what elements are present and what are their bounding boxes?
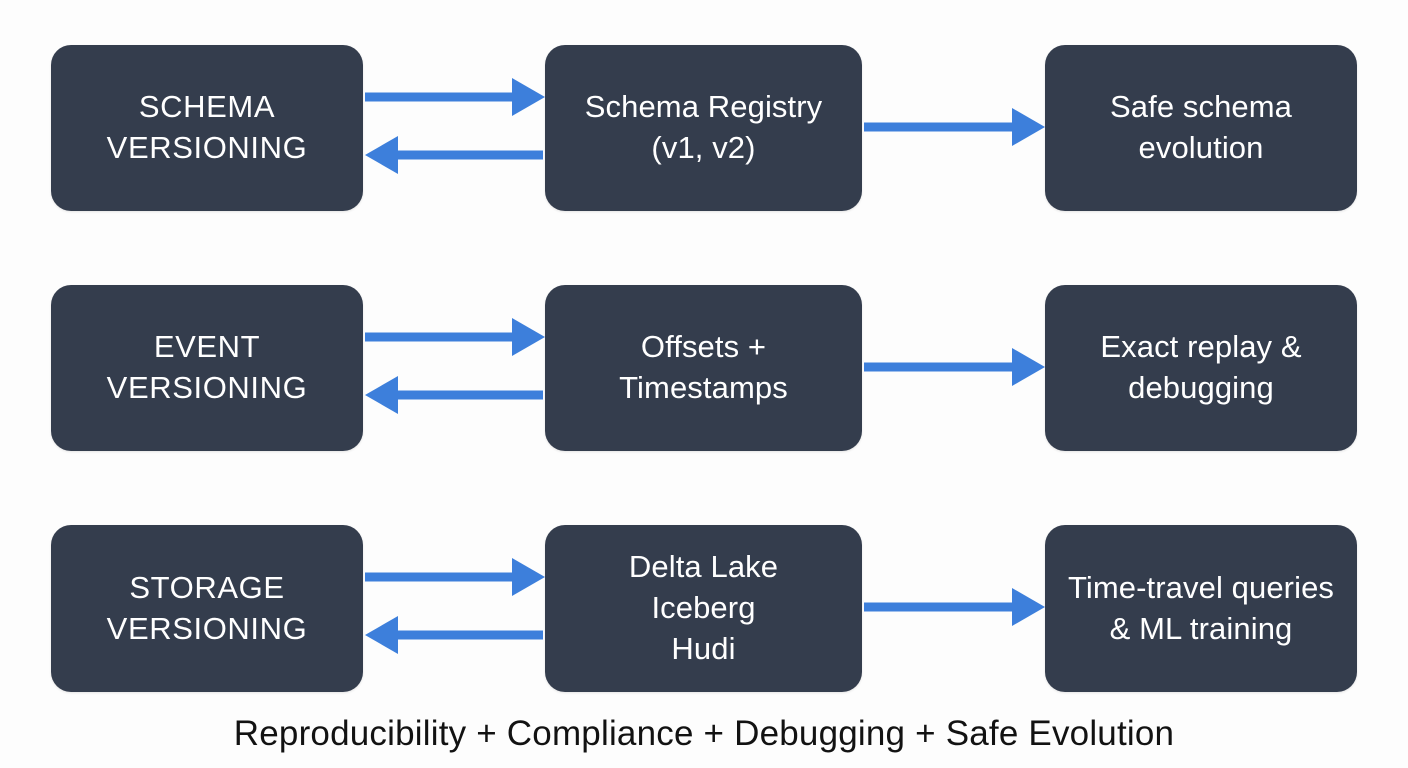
node-offsets-timestamps-label: Offsets + Timestamps	[619, 327, 788, 409]
node-schema-versioning[interactable]: SCHEMA VERSIONING	[51, 45, 363, 211]
arrow-row1-mechanism-to-trigger	[365, 136, 543, 174]
node-storage-versioning-label: STORAGE VERSIONING	[107, 568, 308, 650]
summary-caption: Reproducibility + Compliance + Debugging…	[0, 714, 1408, 754]
node-time-travel-ml-training-label: Time-travel queries & ML training	[1068, 568, 1334, 650]
node-event-versioning-label: EVENT VERSIONING	[107, 327, 308, 409]
node-table-formats[interactable]: Delta Lake Iceberg Hudi	[545, 525, 862, 692]
arrow-row2-mechanism-to-outcome	[864, 348, 1045, 386]
node-schema-registry-label: Schema Registry (v1, v2)	[585, 87, 823, 169]
node-safe-schema-evolution-label: Safe schema evolution	[1110, 87, 1292, 169]
node-schema-registry[interactable]: Schema Registry (v1, v2)	[545, 45, 862, 211]
arrow-row1-trigger-to-mechanism	[365, 78, 545, 116]
node-exact-replay-debugging[interactable]: Exact replay & debugging	[1045, 285, 1357, 451]
arrow-row3-trigger-to-mechanism	[365, 558, 545, 596]
node-schema-versioning-label: SCHEMA VERSIONING	[107, 87, 308, 169]
node-storage-versioning[interactable]: STORAGE VERSIONING	[51, 525, 363, 692]
node-table-formats-label: Delta Lake Iceberg Hudi	[629, 547, 778, 670]
node-offsets-timestamps[interactable]: Offsets + Timestamps	[545, 285, 862, 451]
node-safe-schema-evolution[interactable]: Safe schema evolution	[1045, 45, 1357, 211]
node-exact-replay-debugging-label: Exact replay & debugging	[1100, 327, 1301, 409]
node-event-versioning[interactable]: EVENT VERSIONING	[51, 285, 363, 451]
arrow-row3-mechanism-to-trigger	[365, 616, 543, 654]
arrow-row3-mechanism-to-outcome	[864, 588, 1045, 626]
arrow-row2-trigger-to-mechanism	[365, 318, 545, 356]
arrow-row2-mechanism-to-trigger	[365, 376, 543, 414]
node-time-travel-ml-training[interactable]: Time-travel queries & ML training	[1045, 525, 1357, 692]
versioning-architecture-diagram: SCHEMA VERSIONING Schema Registry (v1, v…	[0, 0, 1408, 768]
arrow-row1-mechanism-to-outcome	[864, 108, 1045, 146]
